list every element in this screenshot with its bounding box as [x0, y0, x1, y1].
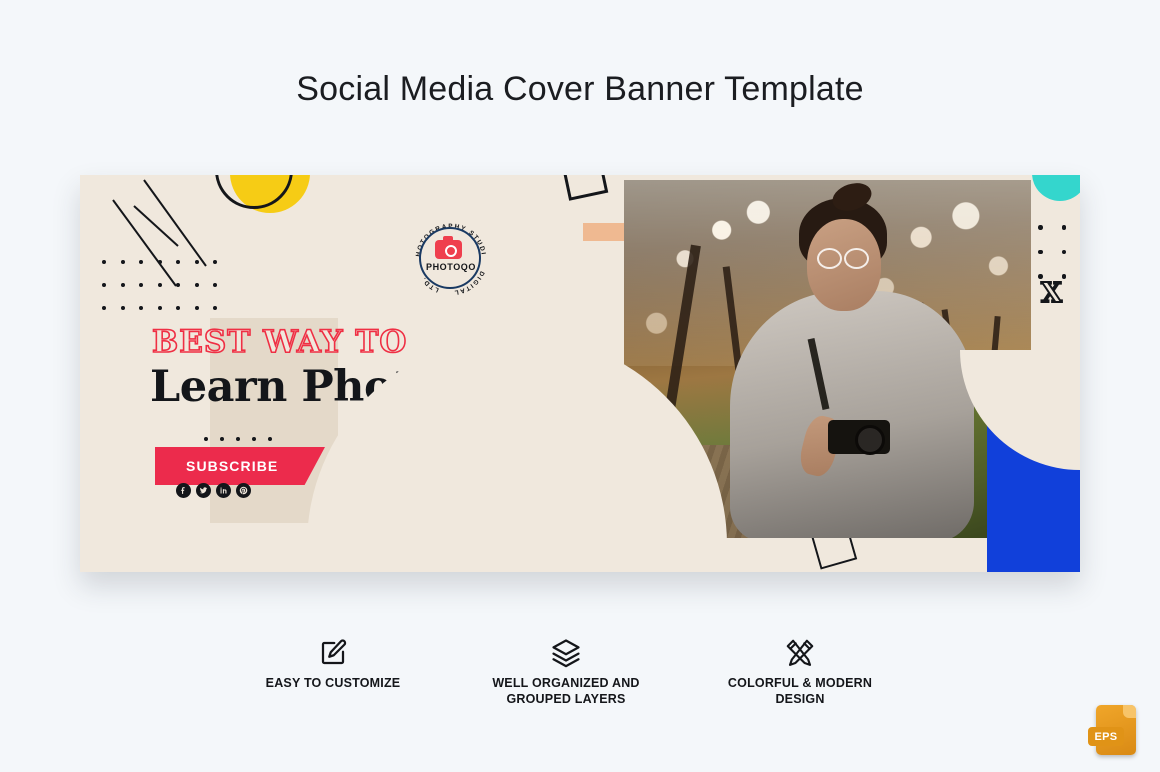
- logo-badge: PHOTOGRAPHY STUDIO DIGITAL LTD. PHOTOQO: [411, 219, 491, 299]
- eps-label: EPS: [1095, 731, 1118, 743]
- tan-bar-decoration: [583, 223, 626, 241]
- blue-notch-decoration: [987, 532, 1042, 572]
- x-black-decoration: X: [1041, 280, 1062, 307]
- feature-item-well-organized-layers: WELL ORGANIZED AND GROUPED LAYERS: [476, 636, 656, 707]
- subscribe-button[interactable]: SUBSCRIBE: [155, 447, 325, 485]
- subscribe-button-label: SUBSCRIBE: [186, 458, 278, 474]
- feature-list: EASY TO CUSTOMIZE WELL ORGANIZED AND GRO…: [0, 636, 1160, 706]
- linkedin-icon[interactable]: [216, 483, 231, 498]
- page-fold-icon: [1123, 705, 1136, 718]
- feature-label: EASY TO CUSTOMIZE: [243, 676, 423, 692]
- layers-icon: [476, 636, 656, 670]
- edit-pencil-icon: [243, 636, 423, 670]
- feature-item-easy-to-customize: EASY TO CUSTOMIZE: [243, 636, 423, 692]
- headline-kicker: Best Way to: [152, 327, 407, 358]
- twitter-icon[interactable]: [196, 483, 211, 498]
- social-links: [176, 483, 251, 498]
- feature-item-colorful-modern-design: COLORFUL & MODERN DESIGN: [710, 636, 890, 707]
- eps-label-tab: EPS: [1088, 727, 1124, 746]
- feature-label: COLORFUL & MODERN DESIGN: [710, 676, 890, 707]
- cover-banner: PHOTOGRAPHY STUDIO DIGITAL LTD. PHOTOQO …: [80, 175, 1080, 572]
- ruler-pencil-icon: [710, 636, 890, 670]
- eps-file-badge[interactable]: EPS: [1088, 705, 1140, 757]
- square-outline-top-decoration: [562, 175, 609, 201]
- logo-wordmark: PHOTOQO: [411, 262, 491, 272]
- pinterest-icon[interactable]: [236, 483, 251, 498]
- camera-icon: [435, 240, 462, 259]
- teal-dome-decoration: [1032, 175, 1080, 201]
- feature-label: WELL ORGANIZED AND GROUPED LAYERS: [476, 676, 656, 707]
- page-title: Social Media Cover Banner Template: [0, 70, 1160, 109]
- facebook-icon[interactable]: [176, 483, 191, 498]
- button-dots-decoration: [204, 437, 272, 441]
- dot-grid-left-decoration: [102, 260, 217, 329]
